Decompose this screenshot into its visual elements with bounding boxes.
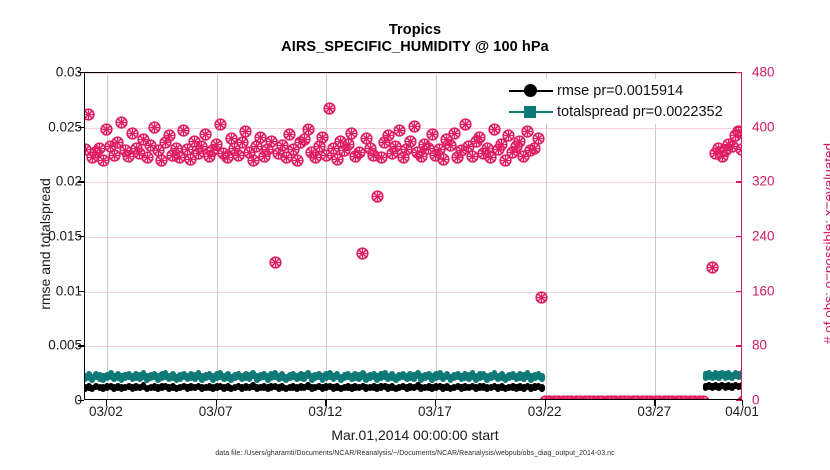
- gridline-vertical: [436, 73, 437, 399]
- y-tick-mark-right: [736, 291, 742, 292]
- legend-item-totalspread[interactable]: totalspread pr=0.0022352: [509, 101, 723, 122]
- obs-count-marker: [488, 123, 501, 136]
- legend-label-totalspread: totalspread pr=0.0022352: [557, 104, 723, 120]
- obs-count-marker: [345, 127, 358, 140]
- y-tick-mark-right: [736, 181, 742, 182]
- totalspread-point: [739, 370, 741, 380]
- y-tick-mark-right: [736, 236, 742, 237]
- legend-label-rmse: rmse pr=0.0015914: [557, 83, 683, 99]
- y-tick-mark-left: [78, 291, 84, 292]
- obs-count-marker: [737, 395, 742, 400]
- y-tick-mark-right: [736, 127, 742, 128]
- y-tick-mark-left: [78, 345, 84, 346]
- obs-count-marker: [356, 247, 369, 260]
- x-tick-label: 03/27: [619, 404, 689, 419]
- gridline-horizontal: [85, 237, 741, 238]
- obs-count-marker: [214, 118, 227, 131]
- obs-count-marker: [735, 143, 741, 156]
- legend-item-rmse[interactable]: rmse pr=0.0015914: [509, 80, 723, 101]
- legend-swatch-totalspread: [509, 105, 553, 119]
- gridline-horizontal: [85, 346, 741, 347]
- x-axis-label: Mar.01,2014 00:00:00 start: [0, 427, 830, 443]
- y-tick-label-left: 0.03: [12, 65, 82, 80]
- x-tick-label: 03/07: [181, 404, 251, 419]
- y-axis-label-right: # of obs: o=possible; x=evaluated: [822, 79, 830, 409]
- y-tick-mark-right: [736, 345, 742, 346]
- x-tick-mark: [654, 400, 655, 406]
- x-tick-label: 03/22: [510, 404, 580, 419]
- obs-count-marker: [426, 128, 439, 141]
- y-tick-label-right: 480: [752, 65, 812, 80]
- obs-count-marker: [163, 129, 176, 142]
- x-tick-mark: [545, 400, 546, 406]
- y-tick-mark-left: [78, 236, 84, 237]
- obs-count-marker: [291, 154, 304, 167]
- obs-count-marker: [532, 132, 545, 145]
- obs-count-marker: [437, 153, 450, 166]
- obs-count-marker: [239, 125, 252, 138]
- x-tick-mark: [435, 400, 436, 406]
- chart-title: Tropics AIRS_SPECIFIC_HUMIDITY @ 100 hPa: [0, 22, 830, 56]
- y-tick-label-right: 240: [752, 229, 812, 244]
- y-tick-mark-left: [78, 181, 84, 182]
- x-tick-mark: [742, 400, 743, 406]
- gridline-horizontal: [85, 292, 741, 293]
- obs-count-marker: [408, 120, 421, 133]
- gridline-vertical: [326, 73, 327, 399]
- obs-count-marker: [697, 395, 710, 400]
- obs-count-marker: [459, 118, 472, 131]
- gridline-horizontal: [85, 73, 741, 74]
- y-tick-mark-right: [736, 72, 742, 73]
- y-tick-label-right: 80: [752, 338, 812, 353]
- obs-count-marker: [371, 190, 384, 203]
- rmse-point: [539, 384, 545, 392]
- gridline-horizontal: [85, 182, 741, 183]
- chart-legend: rmse pr=0.0015914 totalspread pr=0.00223…: [505, 79, 727, 124]
- y-tick-label-right: 400: [752, 119, 812, 134]
- obs-count-marker: [148, 121, 161, 134]
- y-tick-label-right: 320: [752, 174, 812, 189]
- x-tick-label: 04/01: [707, 404, 777, 419]
- rmse-point: [739, 382, 741, 390]
- y-tick-mark-left: [78, 127, 84, 128]
- x-tick-label: 03/12: [290, 404, 360, 419]
- y-tick-label-right: 160: [752, 283, 812, 298]
- x-tick-label: 03/02: [71, 404, 141, 419]
- legend-swatch-rmse: [509, 84, 553, 98]
- x-tick-mark: [325, 400, 326, 406]
- obs-count-marker: [535, 291, 548, 304]
- x-tick-label: 03/17: [400, 404, 470, 419]
- obs-count-marker: [706, 261, 719, 274]
- x-tick-mark: [106, 400, 107, 406]
- x-tick-mark: [216, 400, 217, 406]
- y-tick-mark-left: [78, 72, 84, 73]
- title-variable: AIRS_SPECIFIC_HUMIDITY @ 100 hPa: [0, 39, 830, 56]
- totalspread-point: [539, 373, 545, 383]
- obs-count-marker: [323, 102, 336, 115]
- y-axis-label-left: rmse and totalspread: [37, 94, 53, 394]
- obs-count-marker: [302, 123, 315, 136]
- obs-count-marker: [85, 108, 95, 121]
- data-file-note: data file: /Users/gharamti/Documents/NCA…: [0, 450, 830, 457]
- y-tick-mark-left: [78, 400, 84, 401]
- obs-count-marker: [269, 256, 282, 269]
- title-region: Tropics: [0, 22, 830, 39]
- obs-count-marker: [100, 123, 113, 136]
